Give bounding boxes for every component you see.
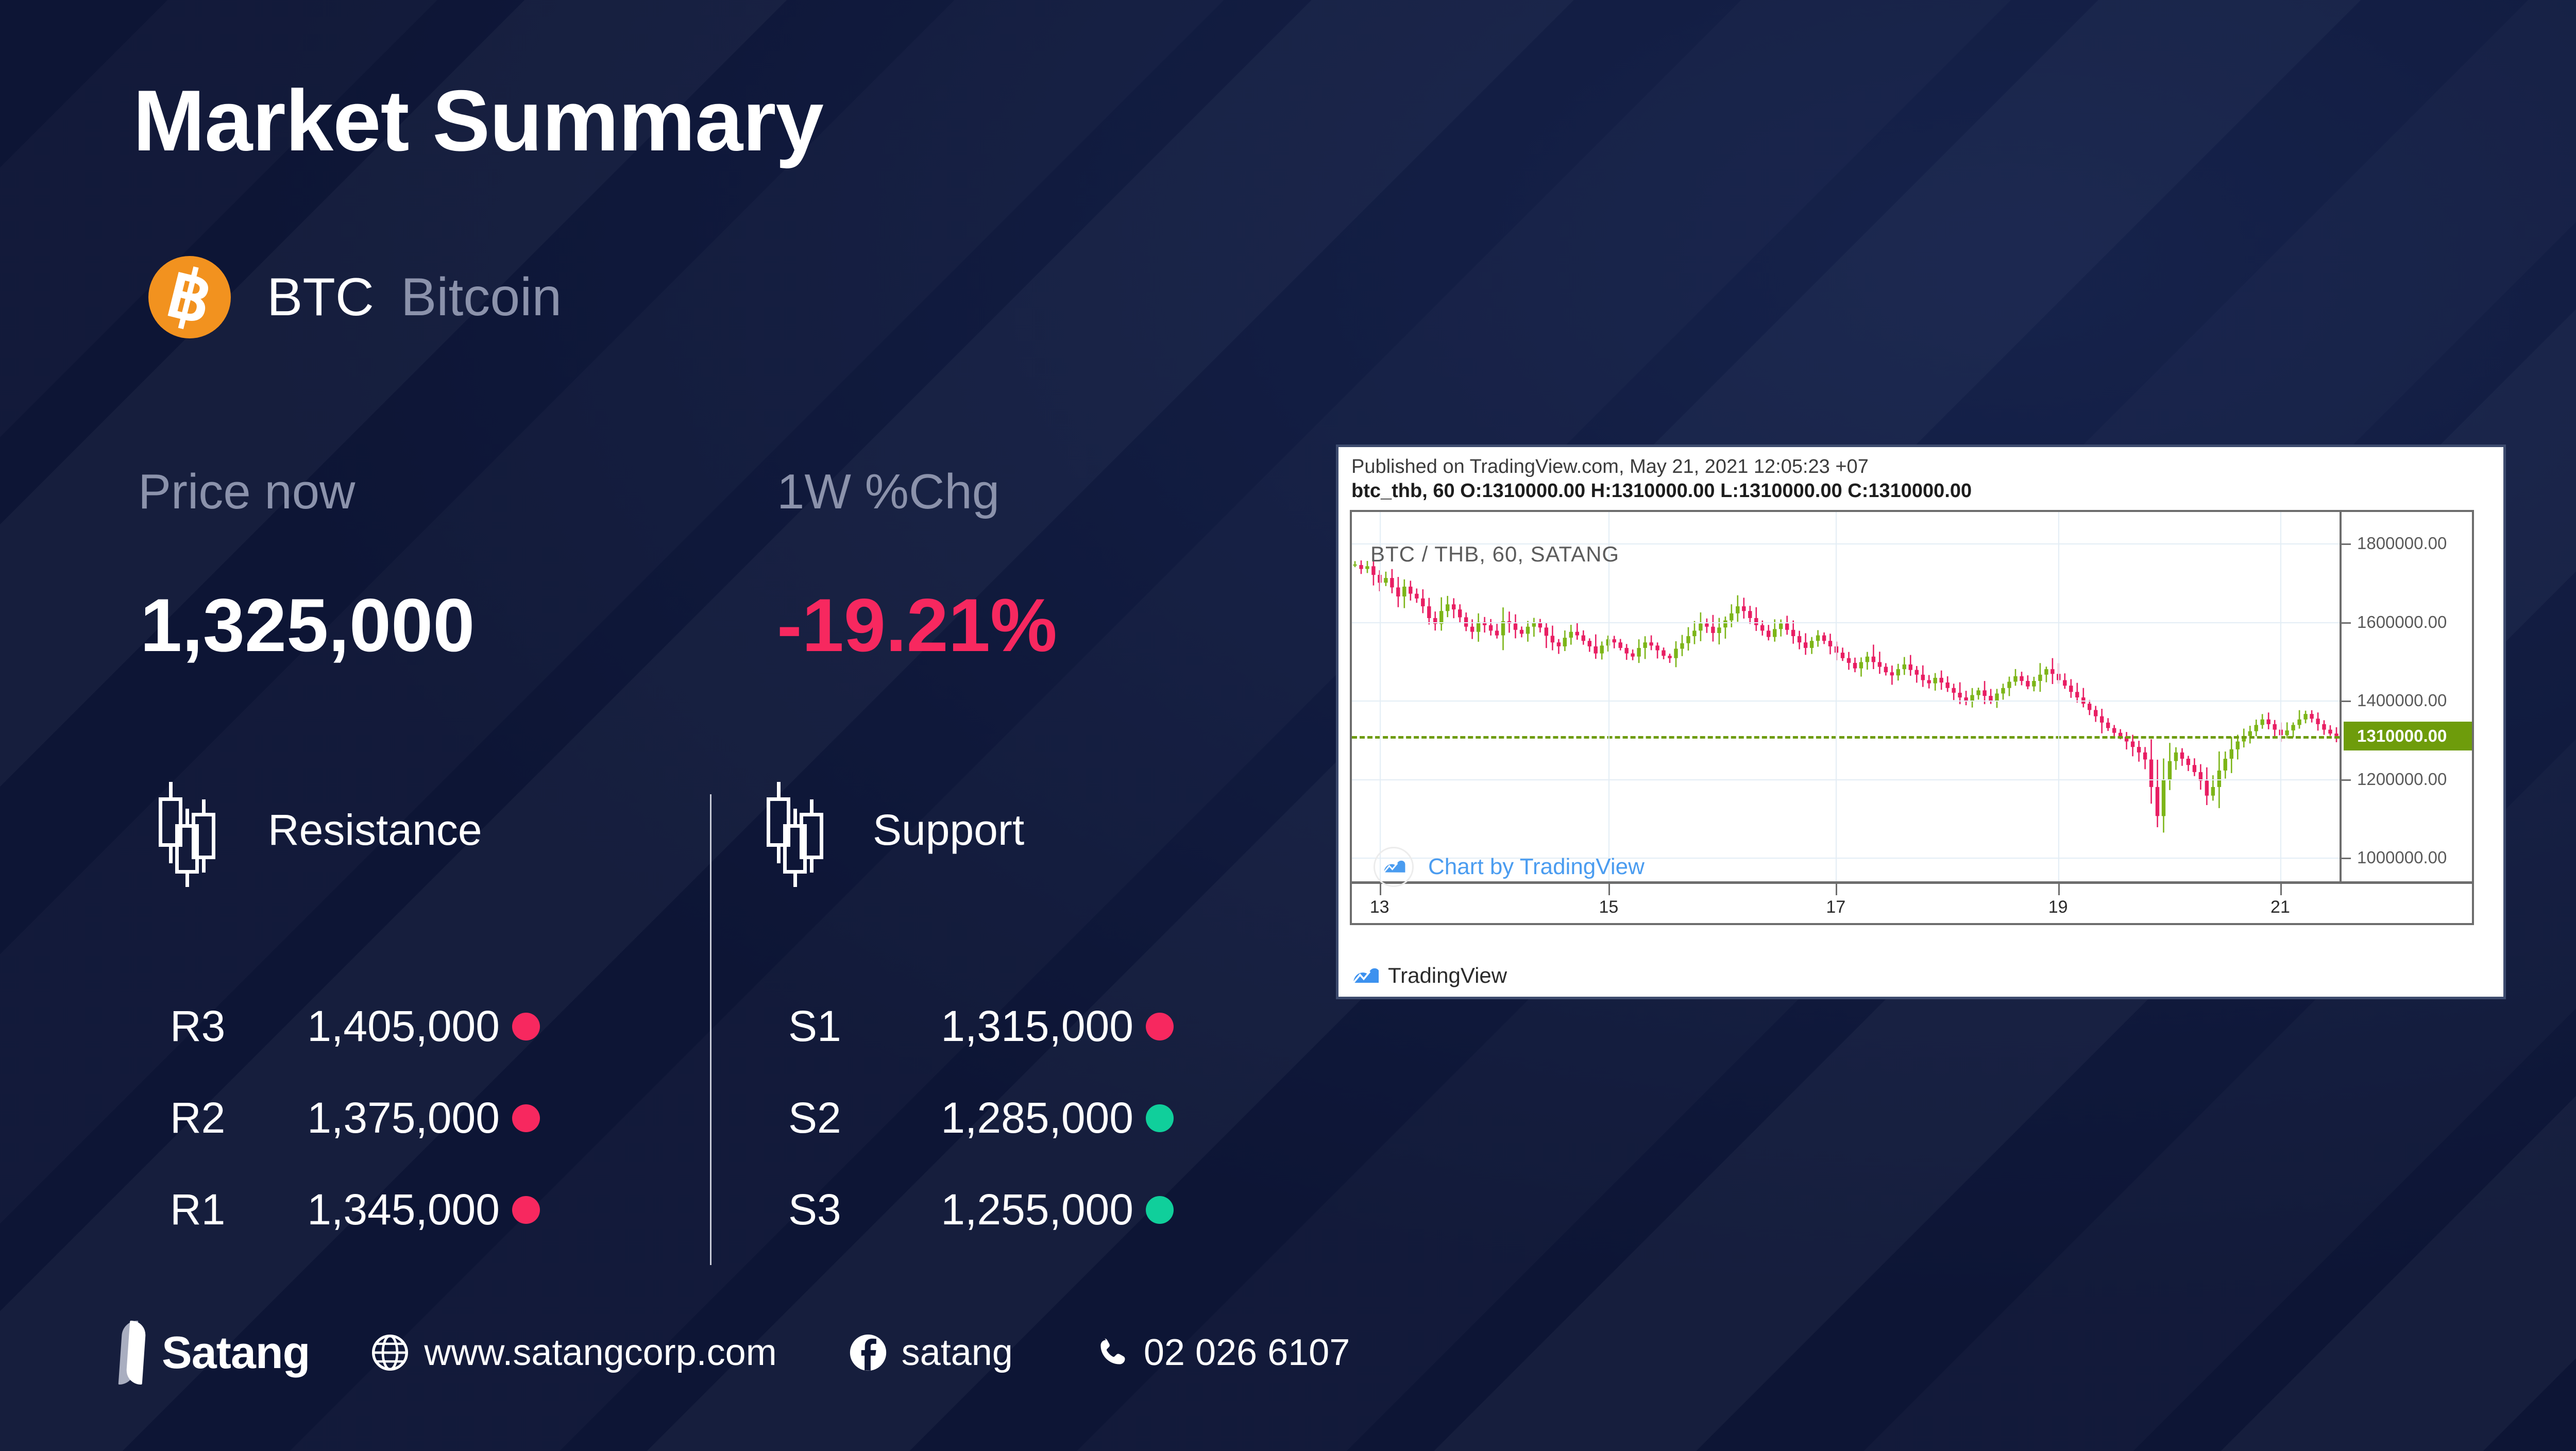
weekly-change-label: 1W %Chg: [777, 464, 999, 520]
price-tick-mark: [2342, 622, 2351, 624]
gridline-horizontal: [1352, 622, 2340, 623]
price-tick-label: 1600000.00: [2357, 612, 2447, 632]
chart-plot-frame[interactable]: BTC / THB, 60, SATANG 1310000.00 1800000…: [1350, 510, 2474, 925]
level-value: 1,345,000: [247, 1185, 500, 1235]
status-dot: [512, 1104, 540, 1132]
gridline-horizontal: [1352, 779, 2340, 780]
coin-header: ฿ BTC Bitcoin: [148, 256, 562, 338]
page-title: Market Summary: [133, 77, 823, 164]
level-value: 1,285,000: [866, 1093, 1133, 1143]
satang-wordmark: Satang: [162, 1326, 310, 1379]
bitcoin-icon: ฿: [148, 256, 231, 338]
price-tick-mark: [2342, 858, 2351, 859]
tradingview-footer-text: TradingView: [1388, 963, 1507, 988]
level-value: 1,315,000: [866, 1001, 1133, 1051]
last-price-badge: 1310000.00: [2344, 722, 2472, 750]
level-row-s1: S1 1,315,000: [788, 1001, 1174, 1051]
website-link[interactable]: www.satangcorp.com: [370, 1331, 776, 1374]
globe-icon: [370, 1333, 410, 1372]
gridline-vertical: [2280, 512, 2281, 881]
chart-ohlc-line: btc_thb, 60 O:1310000.00 H:1310000.00 L:…: [1351, 480, 1972, 502]
level-tag: S2: [788, 1093, 866, 1143]
tradingview-logo-icon: [1351, 962, 1379, 989]
tradingview-chart-panel[interactable]: Published on TradingView.com, May 21, 20…: [1336, 445, 2506, 999]
satang-logo: Satang: [120, 1321, 310, 1385]
chart-plot-area[interactable]: [1352, 512, 2340, 881]
level-row-r1: R1 1,345,000: [170, 1185, 540, 1235]
resistance-header: Resistance: [155, 782, 482, 878]
status-dot: [512, 1196, 540, 1224]
level-row-s2: S2 1,285,000: [788, 1093, 1174, 1143]
weekly-change-value: -19.21%: [777, 582, 1057, 669]
facebook-text: satang: [902, 1331, 1013, 1374]
last-price-line: [1352, 736, 2340, 739]
chart-published-line: Published on TradingView.com, May 21, 20…: [1351, 456, 1869, 478]
level-row-s3: S3 1,255,000: [788, 1185, 1174, 1235]
price-tick-mark: [2342, 543, 2351, 545]
time-tick-mark: [1836, 884, 1837, 895]
website-text: www.satangcorp.com: [424, 1331, 776, 1374]
price-tick-label: 1000000.00: [2357, 848, 2447, 867]
time-tick-label: 15: [1599, 897, 1618, 917]
gridline-horizontal: [1352, 701, 2340, 702]
level-value: 1,255,000: [866, 1185, 1133, 1235]
bitcoin-glyph: ฿: [140, 247, 240, 347]
phone-text: 02 026 6107: [1144, 1331, 1350, 1374]
level-tag: S3: [788, 1185, 866, 1235]
chart-watermark: Chart by TradingView: [1374, 847, 1645, 887]
chart-symbol-label: BTC / THB, 60, SATANG: [1370, 542, 1619, 567]
candlestick-icon: [155, 782, 212, 878]
chart-watermark-text: Chart by TradingView: [1428, 854, 1645, 880]
status-dot: [1146, 1196, 1174, 1224]
coin-name: Bitcoin: [401, 267, 562, 328]
price-tick-label: 1800000.00: [2357, 534, 2447, 553]
footer: Satang www.satangcorp.com satang 02 026 …: [120, 1317, 1350, 1389]
time-tick-label: 19: [2048, 897, 2068, 917]
level-row-r2: R2 1,375,000: [170, 1093, 540, 1143]
support-label: Support: [873, 805, 1024, 855]
phone-icon: [1095, 1336, 1129, 1370]
satang-mark-icon: [120, 1321, 150, 1385]
price-tick-mark: [2342, 701, 2351, 702]
level-tag: R3: [170, 1001, 247, 1051]
time-tick-label: 13: [1370, 897, 1389, 917]
time-axis[interactable]: 1315171921: [1352, 881, 2472, 923]
resistance-label: Resistance: [268, 805, 482, 855]
level-value: 1,375,000: [247, 1093, 500, 1143]
status-dot: [1146, 1013, 1174, 1040]
time-tick-mark: [2058, 884, 2060, 895]
gridline-vertical: [1380, 512, 1381, 881]
time-tick-label: 21: [2270, 897, 2290, 917]
level-tag: R1: [170, 1185, 247, 1235]
price-axis[interactable]: 1310000.00 1800000.001600000.001400000.0…: [2340, 512, 2472, 881]
time-tick-mark: [2280, 884, 2282, 895]
support-header: Support: [762, 782, 1024, 878]
price-tick-label: 1200000.00: [2357, 770, 2447, 789]
price-tick-label: 1400000.00: [2357, 691, 2447, 710]
tradingview-footer[interactable]: TradingView: [1351, 962, 1507, 989]
level-value: 1,405,000: [247, 1001, 500, 1051]
price-now-label: Price now: [138, 464, 355, 520]
gridline-vertical: [1608, 512, 1609, 881]
gridline-vertical: [1836, 512, 1837, 881]
level-tag: R2: [170, 1093, 247, 1143]
last-price-text: 1310000.00: [2357, 726, 2447, 746]
price-now-value: 1,325,000: [140, 582, 475, 669]
level-row-r3: R3 1,405,000: [170, 1001, 540, 1051]
level-tag: S1: [788, 1001, 866, 1051]
time-tick-label: 17: [1826, 897, 1845, 917]
tradingview-logo-icon: [1374, 847, 1414, 887]
coin-symbol: BTC: [267, 267, 374, 328]
phone-link[interactable]: 02 026 6107: [1095, 1331, 1350, 1374]
facebook-icon: [849, 1334, 887, 1372]
price-tick-mark: [2342, 779, 2351, 781]
facebook-link[interactable]: satang: [849, 1331, 1013, 1374]
status-dot: [1146, 1104, 1174, 1132]
gridline-vertical: [2058, 512, 2059, 881]
status-dot: [512, 1013, 540, 1040]
levels-divider: [710, 794, 711, 1265]
candlestick-icon: [762, 782, 820, 878]
candlestick-series: [1352, 512, 2340, 881]
